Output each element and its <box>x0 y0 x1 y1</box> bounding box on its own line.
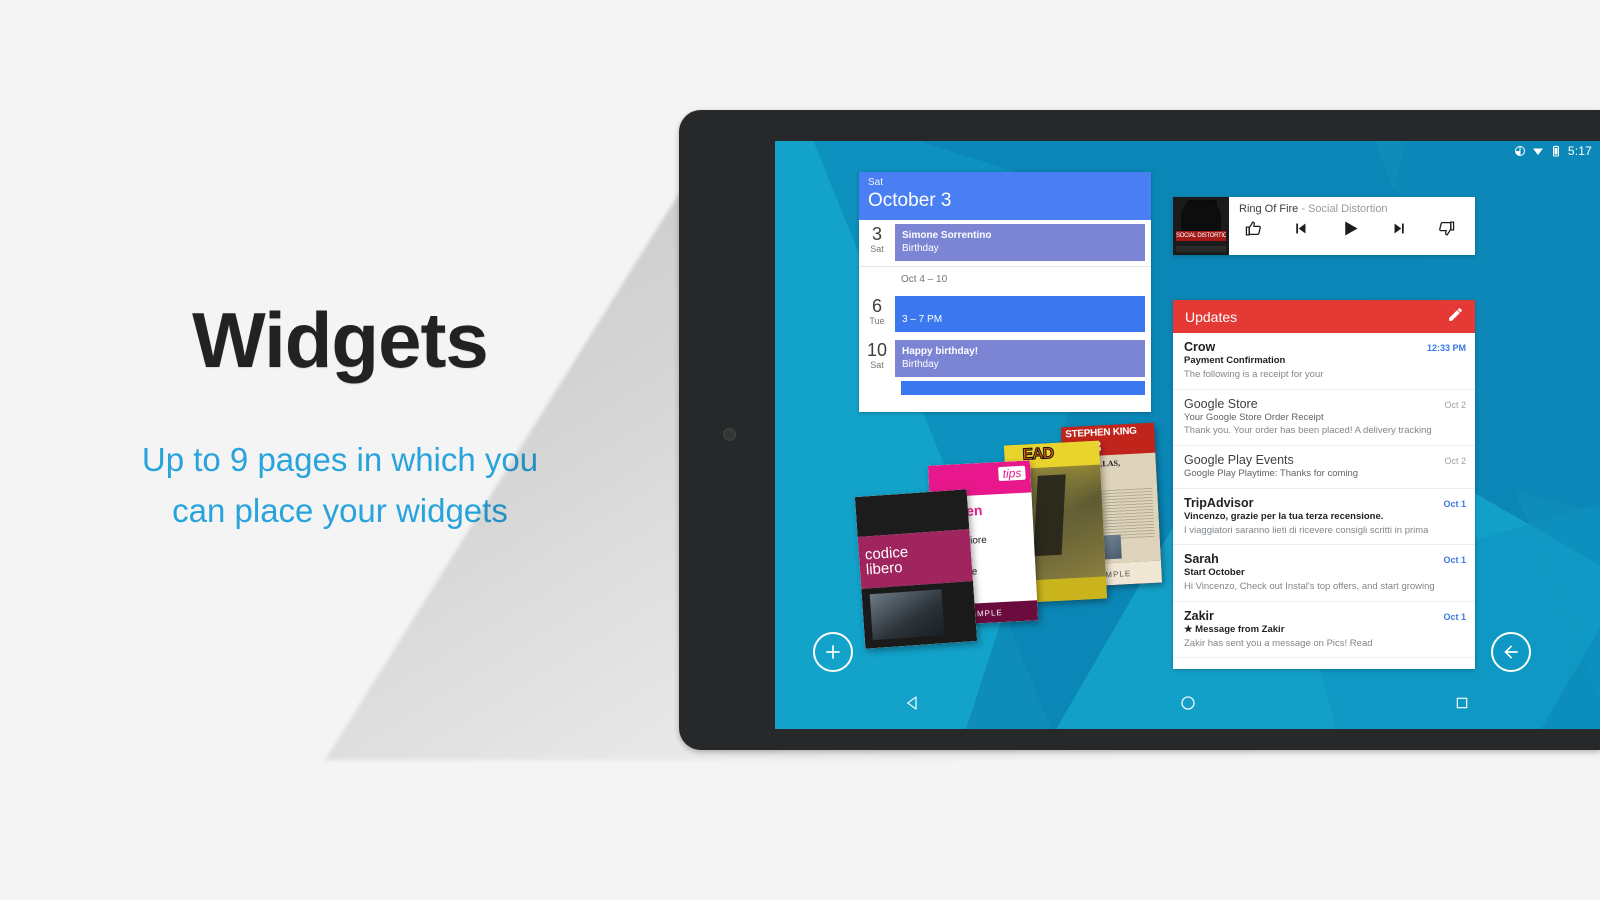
calendar-header-date: October 3 <box>868 189 1142 213</box>
previous-icon[interactable] <box>1292 220 1309 241</box>
thumb-up-icon[interactable] <box>1245 220 1262 241</box>
calendar-widget[interactable]: Sat October 3 3 Sat Simone Sorrentino Bi… <box>859 172 1151 412</box>
book-brand-tips: tips <box>998 466 1025 481</box>
mail-snippet: The following is a receipt for your <box>1184 368 1466 382</box>
album-art-title: SOCIAL DISTORTION <box>1176 231 1226 241</box>
calendar-event[interactable]: Happy birthday! Birthday <box>895 340 1145 377</box>
mail-sender: Google Store <box>1184 397 1258 411</box>
mail-snippet: Thank you. Your order has been placed! A… <box>1184 424 1466 438</box>
calendar-week-label: Oct 4 – 10 <box>859 267 1151 292</box>
calendar-day-name: Sat <box>859 243 895 256</box>
calendar-event-subtitle: Birthday <box>902 358 1138 372</box>
tablet-screen: 5:17 Sat October 3 3 Sat Simone Sorrenti… <box>775 141 1600 729</box>
home-circle-icon[interactable] <box>1050 694 1325 712</box>
android-navigation-bar <box>775 677 1600 729</box>
music-player-widget[interactable]: SOCIAL DISTORTION Ring Of Fire - Social … <box>1173 197 1475 255</box>
updates-header: Updates <box>1173 300 1475 333</box>
mail-timestamp: Oct 2 <box>1438 400 1466 410</box>
mail-row[interactable]: Google Play Events Oct 2 Google Play Pla… <box>1173 446 1475 489</box>
mail-timestamp: Oct 1 <box>1437 555 1466 565</box>
track-separator: - <box>1298 203 1308 215</box>
calendar-daynum: 6 Tue <box>859 296 895 328</box>
calendar-event-row[interactable]: 3 Sat Simone Sorrentino Birthday <box>859 220 1151 265</box>
calendar-event-subtitle: Birthday <box>902 242 1138 256</box>
mail-snippet: Zakir has sent you a message on Pics! Re… <box>1184 637 1466 651</box>
mail-row[interactable]: Google Store Oct 2 Your Google Store Ord… <box>1173 390 1475 447</box>
track-artist: Social Distortion <box>1308 203 1387 215</box>
mail-subject: ★ Message from Zakir <box>1184 623 1466 637</box>
calendar-day-name: Sat <box>859 359 895 372</box>
status-bar: 5:17 <box>1514 144 1592 158</box>
mail-subject: Google Play Playtime: Thanks for coming <box>1184 467 1466 481</box>
screen-rotation-icon <box>1514 145 1526 157</box>
calendar-day-number: 10 <box>859 341 895 359</box>
mail-timestamp: Oct 1 <box>1437 499 1466 509</box>
front-camera-icon <box>723 428 736 441</box>
mail-sender: TripAdvisor <box>1184 496 1253 510</box>
mail-sender: Crow <box>1184 340 1215 354</box>
arrow-left-icon <box>1501 642 1521 662</box>
back-button[interactable] <box>1491 632 1531 672</box>
album-art: SOCIAL DISTORTION <box>1173 197 1229 255</box>
calendar-daynum: 10 Sat <box>859 340 895 372</box>
track-title: Ring Of Fire <box>1239 203 1298 215</box>
updates-title: Updates <box>1185 309 1237 325</box>
play-icon[interactable] <box>1340 218 1361 243</box>
status-bar-clock: 5:17 <box>1568 144 1592 158</box>
calendar-header-dow: Sat <box>868 177 1142 189</box>
recents-square-icon[interactable] <box>1325 695 1600 711</box>
mail-timestamp: Oct 1 <box>1437 612 1466 622</box>
pencil-icon[interactable] <box>1447 306 1464 328</box>
mail-subject: Vincenzo, grazie per la tua terza recens… <box>1184 510 1466 524</box>
playback-controls <box>1239 215 1469 243</box>
mail-row[interactable]: Zakir Oct 1 ★ Message from Zakir Zakir h… <box>1173 602 1475 659</box>
music-info: Ring Of Fire - Social Distortion <box>1229 197 1475 255</box>
mail-snippet: I viaggiatori saranno lieti di ricevere … <box>1184 524 1466 538</box>
calendar-event-row[interactable]: 6 Tue 3 – 7 PM <box>859 292 1151 336</box>
updates-list: Crow 12:33 PM Payment Confirmation The f… <box>1173 333 1475 658</box>
mail-row[interactable]: TripAdvisor Oct 1 Vincenzo, grazie per l… <box>1173 489 1475 546</box>
back-triangle-icon[interactable] <box>775 694 1050 712</box>
calendar-day-name: Tue <box>859 315 895 328</box>
book-cover[interactable]: codice libero <box>855 489 977 648</box>
mail-subject: Your Google Store Order Receipt <box>1184 411 1466 425</box>
mail-row[interactable]: Crow 12:33 PM Payment Confirmation The f… <box>1173 333 1475 390</box>
mail-row[interactable]: Sarah Oct 1 Start October Hi Vincenzo, C… <box>1173 545 1475 602</box>
battery-icon <box>1550 145 1562 157</box>
calendar-daynum: 3 Sat <box>859 224 895 256</box>
calendar-event-row[interactable]: 10 Sat Happy birthday! Birthday <box>859 336 1151 381</box>
calendar-event[interactable]: 3 – 7 PM <box>895 296 1145 332</box>
mail-timestamp: 12:33 PM <box>1421 343 1466 353</box>
mail-snippet: Hi Vincenzo, Check out Instal's top offe… <box>1184 580 1466 594</box>
calendar-day-number: 3 <box>859 225 895 243</box>
calendar-header[interactable]: Sat October 3 <box>859 172 1151 220</box>
plus-icon <box>823 642 843 662</box>
wifi-icon <box>1532 145 1544 157</box>
calendar-event-title: Happy birthday! <box>902 345 1138 359</box>
calendar-event[interactable]: Simone Sorrentino Birthday <box>895 224 1145 261</box>
thumb-down-icon[interactable] <box>1438 220 1455 241</box>
calendar-day-number: 6 <box>859 297 895 315</box>
mail-subject: Start October <box>1184 566 1466 580</box>
mail-timestamp: Oct 2 <box>1438 456 1466 466</box>
calendar-event-title: Simone Sorrentino <box>902 229 1138 243</box>
calendar-event-subtitle: 3 – 7 PM <box>902 313 942 327</box>
now-playing-text: Ring Of Fire - Social Distortion <box>1239 203 1469 215</box>
calendar-body: 3 Sat Simone Sorrentino Birthday Oct 4 –… <box>859 220 1151 395</box>
bookshelf-widget[interactable]: STEPHEN KING 22/63 N IN DALLAS, S OATH A… <box>860 421 1190 651</box>
calendar-event-partial[interactable] <box>901 381 1145 395</box>
updates-mail-widget[interactable]: Updates Crow 12:33 PM Payment Confirmati… <box>1173 300 1475 669</box>
add-widget-button[interactable] <box>813 632 853 672</box>
mail-sender: Google Play Events <box>1184 453 1294 467</box>
mail-subject: Payment Confirmation <box>1184 354 1466 368</box>
next-icon[interactable] <box>1391 220 1408 241</box>
